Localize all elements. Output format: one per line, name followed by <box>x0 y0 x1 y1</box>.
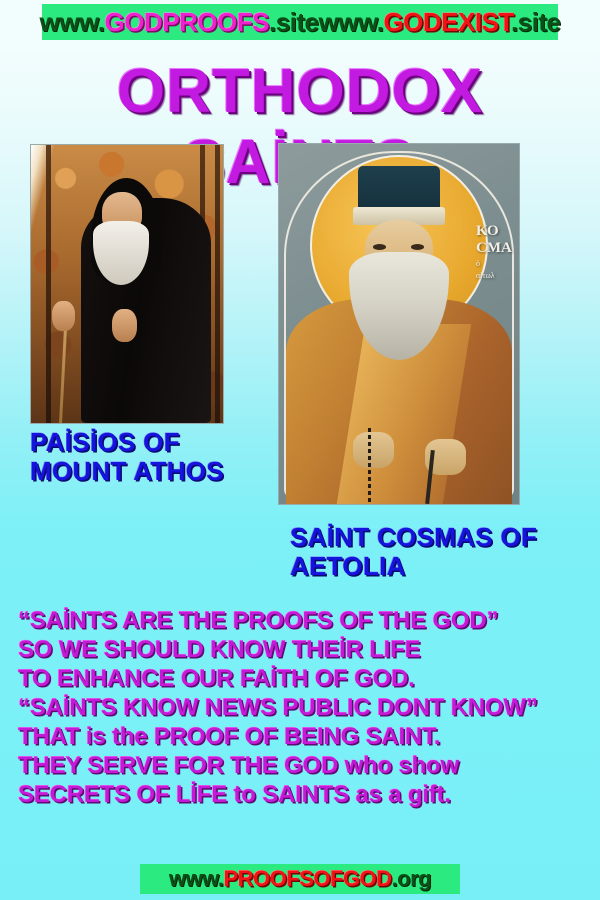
caption-paisios-line-2: MOUNT ATHOS <box>30 457 224 486</box>
link-godproofs[interactable]: www.GODPROOFS.site <box>40 7 319 38</box>
tree-trunk <box>46 145 51 423</box>
body-line: SECRETS OF LİFE to SAINTS as a gift. <box>18 780 596 809</box>
link-godproofs-prefix: www. <box>40 7 105 37</box>
inscription-line-4: αἰτωλ <box>476 272 512 281</box>
link-godexist-name: GODEXIST <box>383 7 510 37</box>
body-line: SO WE SHOULD KNOW THEİR LIFE <box>18 635 596 664</box>
caption-cosmas: SAİNT COSMAS OF AETOLIA <box>290 523 537 581</box>
body-line: THEY SERVE FOR THE GOD who show <box>18 751 596 780</box>
monk-left-hand <box>52 301 75 332</box>
prayer-rope <box>368 428 371 504</box>
saint-left-hand <box>353 432 394 468</box>
bottom-url-banner: www.PROOFSOFGOD.org <box>140 864 460 894</box>
greek-inscription: ΚΟ ϹΜΑ ὁ αἰτωλ <box>476 223 512 281</box>
body-line: “SAİNTS ARE THE PROOFS OF THE GOD” <box>18 606 596 635</box>
link-godexist[interactable]: www.GODEXIST.site <box>319 7 561 38</box>
saint-left-eye <box>373 244 386 250</box>
link-godproofs-name: GODPROOFS <box>104 7 269 37</box>
link-proofsofgod[interactable]: www.PROOFSOFGOD.org <box>169 866 431 892</box>
caption-cosmas-line-2: AETOLIA <box>290 552 537 581</box>
caption-cosmas-line-1: SAİNT COSMAS OF <box>290 523 537 552</box>
inscription-line-2: ϹΜΑ <box>476 240 512 256</box>
link-godexist-tld: .site <box>511 7 561 37</box>
top-url-banner: www.GODPROOFS.site www.GODEXIST.site <box>42 4 558 40</box>
photo-paisios-of-mount-athos <box>30 144 224 424</box>
link-proofsofgod-name: PROOFSOFGOD <box>224 866 392 891</box>
body-text-block: “SAİNTS ARE THE PROOFS OF THE GOD” SO WE… <box>18 606 596 809</box>
icon-saint-cosmas-of-aetolia: ΚΟ ϹΜΑ ὁ αἰτωλ <box>278 143 520 505</box>
link-proofsofgod-tld: .org <box>392 866 432 891</box>
link-godproofs-tld: .site <box>269 7 319 37</box>
poster-canvas: www.GODPROOFS.site www.GODEXIST.site ORT… <box>0 0 600 900</box>
inscription-line-1: ΚΟ <box>476 223 499 239</box>
body-line: “SAİNTS KNOW NEWS PUBLIC DONT KNOW” <box>18 693 596 722</box>
saint-right-eye <box>411 244 424 250</box>
caption-paisios-line-1: PAİSİOS OF <box>30 428 224 457</box>
monk-right-hand <box>112 309 137 342</box>
link-proofsofgod-prefix: www. <box>169 866 224 891</box>
kalimavkion-hat <box>358 166 440 211</box>
tree-trunk <box>215 145 220 423</box>
body-line: THAT is the PROOF OF BEING SAINT. <box>18 722 596 751</box>
caption-paisios: PAİSİOS OF MOUNT ATHOS <box>30 428 224 486</box>
body-line: TO ENHANCE OUR FAİTH OF GOD. <box>18 664 596 693</box>
inscription-line-3: ὁ <box>476 260 512 269</box>
link-godexist-prefix: www. <box>319 7 384 37</box>
